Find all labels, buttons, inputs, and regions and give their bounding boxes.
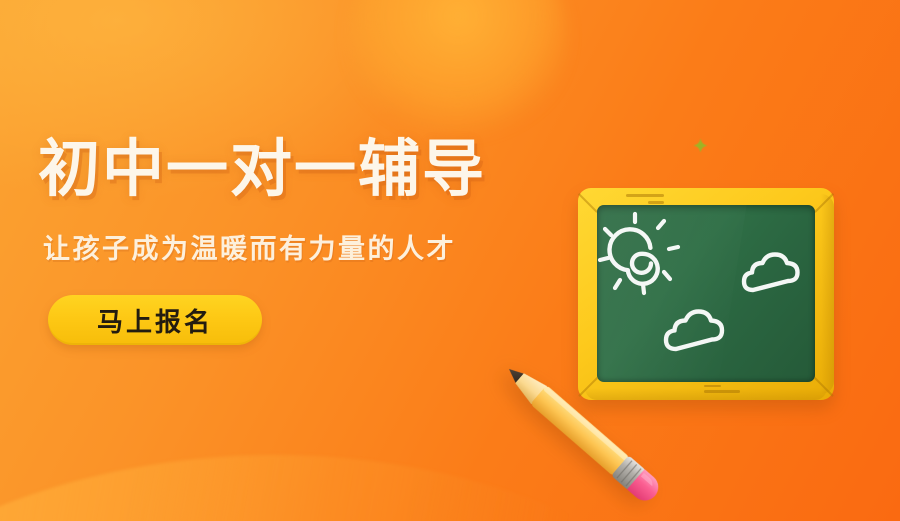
frame-notch-bottom-b [704, 385, 721, 388]
chalkboard-illustration [578, 188, 834, 400]
page-title: 初中一对一辅导 [38, 138, 598, 202]
bottom-light-arc-decoration [0, 455, 850, 521]
chalk-sun-spiral [609, 229, 657, 283]
frame-notch-top-a [626, 194, 664, 197]
green-star-sparkle-icon [693, 138, 708, 153]
signup-button[interactable]: 马上报名 [48, 295, 262, 345]
chalkboard-surface [597, 205, 815, 382]
chalk-cloud-small [666, 312, 722, 350]
frame-notch-top-b [648, 201, 664, 204]
chalk-drawings [597, 205, 815, 382]
sun-glow-decoration [348, 0, 568, 148]
frame-right-shade [821, 194, 834, 394]
chalk-cloud-large [744, 255, 798, 291]
promo-banner: 初中一对一辅导 让孩子成为温暖而有力量的人才 马上报名 [0, 0, 900, 521]
subtitle: 让孩子成为温暖而有力量的人才 [43, 227, 598, 266]
copy-block: 初中一对一辅导 让孩子成为温暖而有力量的人才 马上报名 [38, 138, 598, 345]
frame-notch-bottom-a [704, 390, 740, 393]
